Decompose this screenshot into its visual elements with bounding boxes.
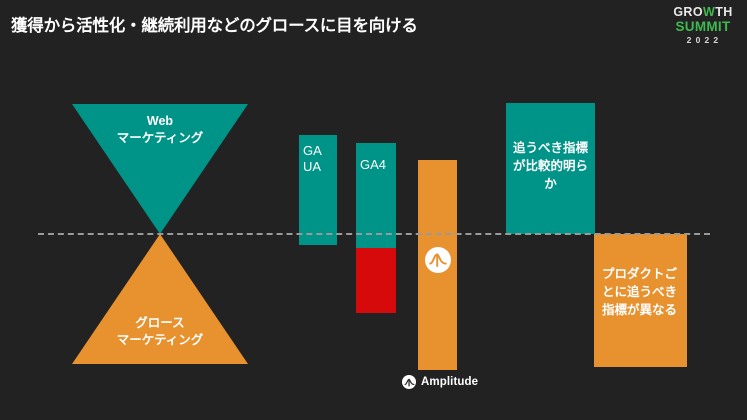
growth-summit-logo: GROWTH SUMMIT 2022	[667, 6, 739, 45]
bar-ga4-label-line1: GA4	[360, 157, 386, 173]
logo-growth-part2: TH	[715, 5, 732, 19]
amplitude-mark-icon	[402, 375, 416, 389]
bar-ga4-below	[356, 248, 396, 313]
bar-ga-ua-label-line1: GA	[303, 143, 322, 159]
bar-ga-ua-label: GA UA	[303, 143, 322, 176]
baseline-divider	[38, 233, 710, 235]
logo-growth-part1: GRO	[673, 5, 703, 19]
funnel-top-triangle	[72, 104, 248, 234]
page-title: 獲得から活性化・継続利用などのグロースに目を向ける	[11, 12, 418, 36]
logo-growth-text: GROWTH	[667, 6, 739, 19]
logo-year-text: 2022	[670, 36, 739, 45]
callout-orange: プロダクトごとに追うべき指標が異なる	[594, 234, 687, 367]
funnel-bottom-triangle	[72, 234, 248, 364]
amplitude-wordmark-text: Amplitude	[421, 376, 478, 388]
logo-w-accent: W	[703, 5, 715, 19]
bar-ga-ua-label-line2: UA	[303, 159, 322, 175]
logo-summit-text: SUMMIT	[667, 20, 739, 34]
callout-teal: 追うべき指標が比較的明らか	[506, 103, 595, 234]
amplitude-logo-icon	[425, 247, 451, 273]
bar-ga4-label: GA4	[360, 157, 386, 173]
amplitude-wordmark: Amplitude	[402, 375, 478, 389]
slide-canvas: 獲得から活性化・継続利用などのグロースに目を向ける GROWTH SUMMIT …	[0, 0, 747, 420]
